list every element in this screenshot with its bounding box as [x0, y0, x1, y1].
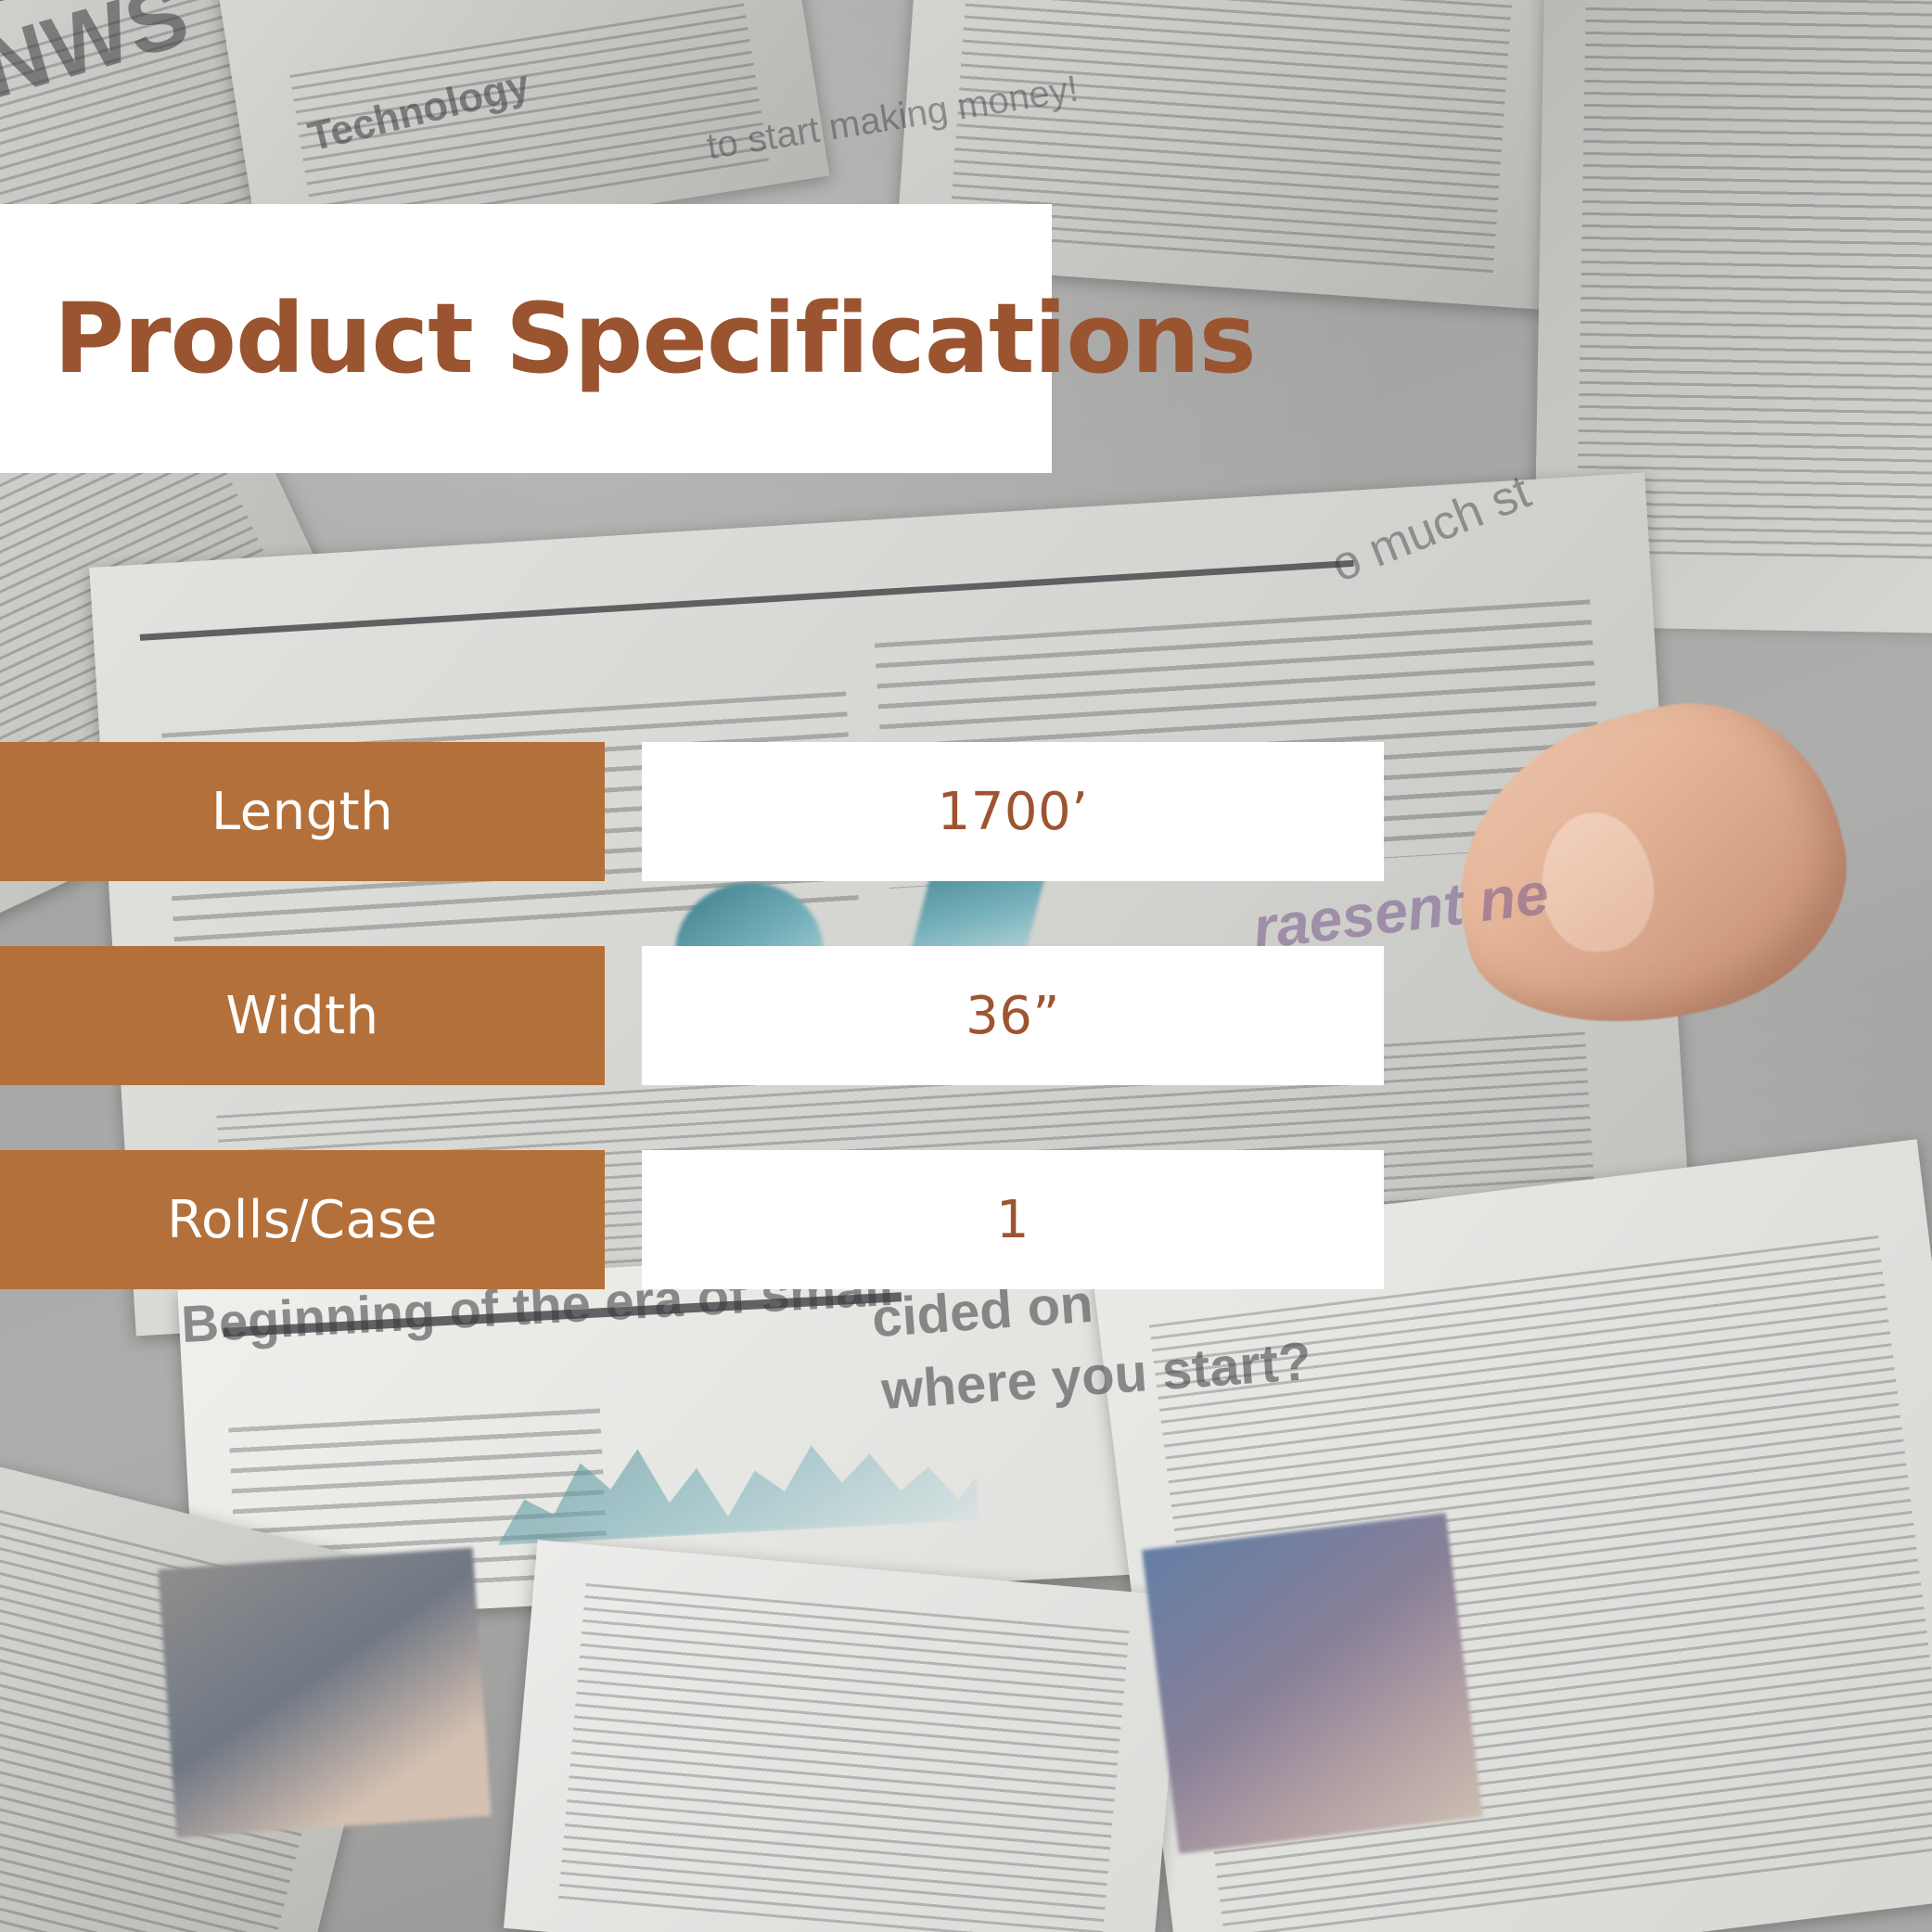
table-row: Length 1700’	[0, 742, 1391, 881]
thumbnail	[1535, 807, 1660, 957]
table-row: Rolls/Case 1	[0, 1150, 1391, 1289]
spec-label-width: Width	[0, 946, 605, 1085]
spec-label-length: Length	[0, 742, 605, 881]
page-title: Product Specifications	[0, 290, 1256, 387]
poster-canvas: Technology to start making money! Beginn…	[0, 0, 1932, 1932]
spec-value-width: 36”	[642, 946, 1384, 1085]
spec-value-rolls-per-case: 1	[642, 1150, 1384, 1289]
spec-label-rolls-per-case: Rolls/Case	[0, 1150, 605, 1289]
spec-value-length: 1700’	[642, 742, 1384, 881]
bg-sheet-bottomcenter	[504, 1540, 1184, 1932]
bg-inset-photo-blue	[1142, 1513, 1483, 1854]
table-row: Width 36”	[0, 946, 1391, 1085]
title-banner: Product Specifications	[0, 204, 1052, 473]
product-specifications-table: Length 1700’ Width 36” Rolls/Case 1	[0, 742, 1391, 1354]
bg-inset-photo-desk	[158, 1547, 491, 1837]
